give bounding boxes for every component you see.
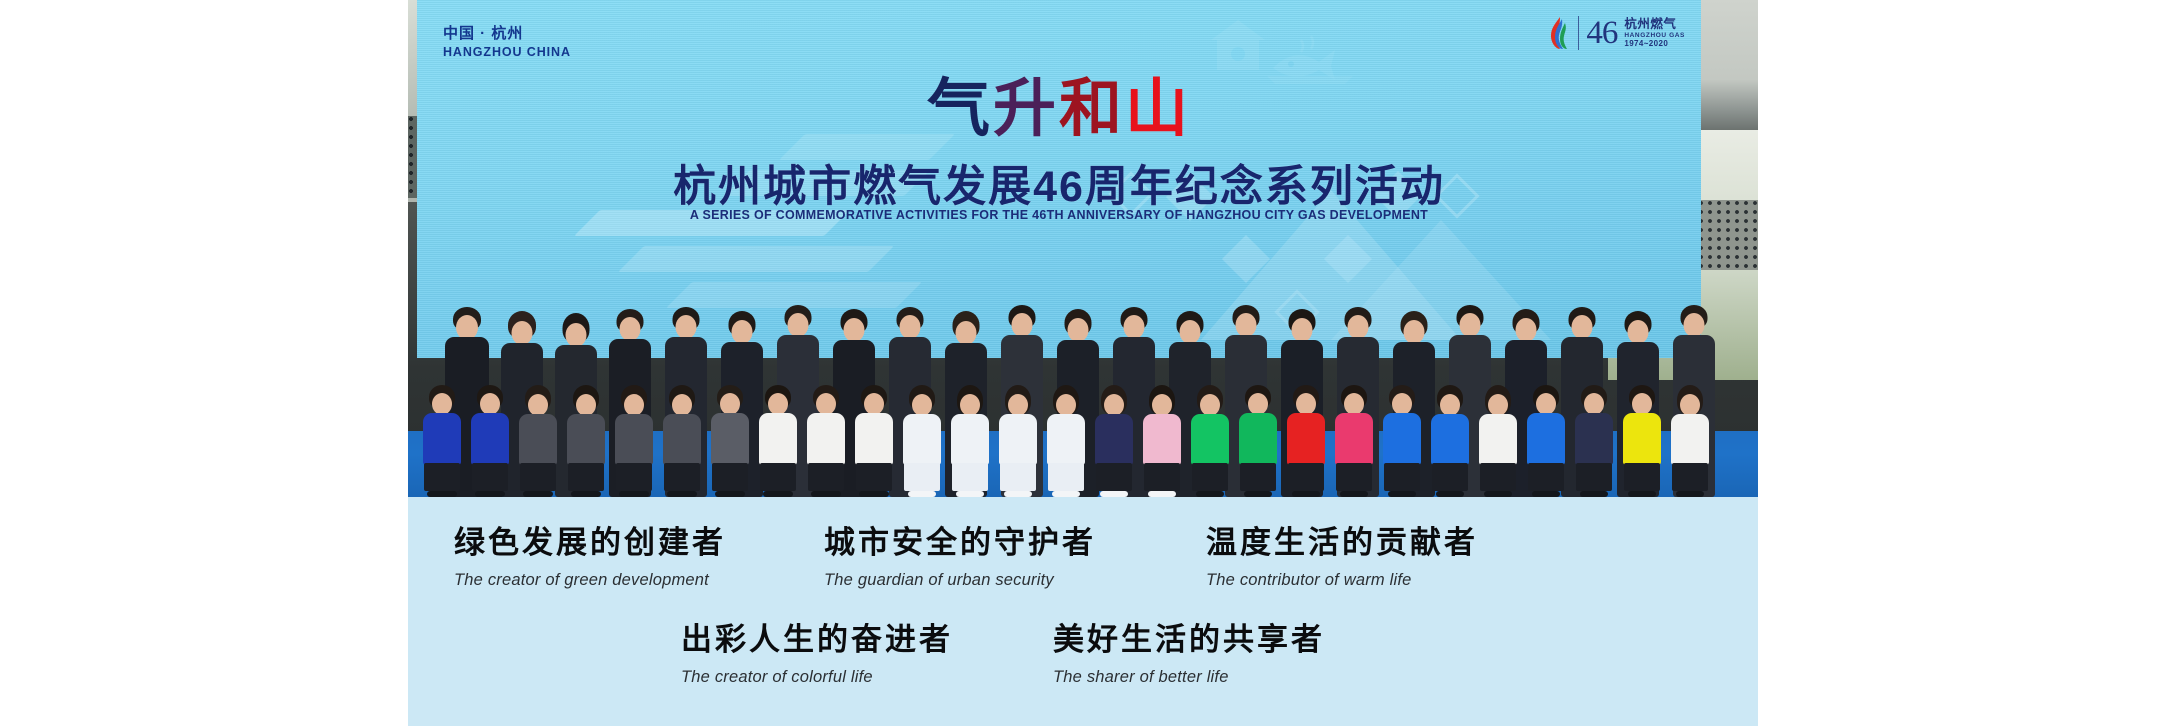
slogan-zh: 出彩人生的奋进者	[681, 614, 1021, 659]
location-cn: 中国 · 杭州	[443, 24, 571, 44]
person	[758, 385, 798, 497]
person	[1382, 385, 1422, 497]
person	[1526, 385, 1566, 497]
person	[566, 385, 606, 497]
person	[1286, 385, 1326, 497]
person	[1046, 385, 1086, 497]
slogan-item: 城市安全的守护者 The guardian of urban security	[824, 517, 1164, 590]
person	[614, 385, 654, 497]
slogan-item: 美好生活的共享者 The sharer of better life	[1053, 614, 1393, 687]
house-icon	[1205, 16, 1271, 74]
person	[662, 385, 702, 497]
anniversary-logo: 46 杭州燃气 HANGZHOU GAS 1974~2020	[1549, 16, 1685, 50]
slogan-zh: 绿色发展的创建者	[454, 517, 802, 562]
person	[950, 385, 990, 497]
slogan-en: The guardian of urban security	[824, 571, 1164, 590]
person	[1190, 385, 1230, 497]
person	[1430, 385, 1470, 497]
poster-page: 中国 · 杭州 HANGZHOU CHINA 46 杭州燃气 HANGZHOU …	[0, 0, 2179, 726]
person	[1094, 385, 1134, 497]
slogan-zh: 城市安全的守护者	[824, 517, 1164, 562]
fish-dish-icon	[1267, 34, 1353, 88]
slogan-row-2: 出彩人生的奋进者 The creator of colorful life 美好…	[408, 614, 1758, 687]
slogan-en: The creator of colorful life	[681, 668, 1021, 687]
location-label: 中国 · 杭州 HANGZHOU CHINA	[443, 24, 571, 60]
person	[1574, 385, 1614, 497]
person	[1142, 385, 1182, 497]
slogan-en: The contributor of warm life	[1206, 571, 1506, 590]
person	[422, 385, 462, 497]
person	[1238, 385, 1278, 497]
brand-text: 杭州燃气 HANGZHOU GAS 1974~2020	[1624, 17, 1685, 49]
people-group	[408, 197, 1758, 497]
flame-icon	[1549, 16, 1571, 50]
person	[1670, 385, 1710, 497]
slogan-item: 绿色发展的创建者 The creator of green developmen…	[454, 517, 802, 590]
logo-divider	[1578, 16, 1579, 50]
slogan-panel: 绿色发展的创建者 The creator of green developmen…	[408, 497, 1758, 726]
calligraphy-slogan: 气升和山	[927, 58, 1191, 149]
calligraphy-char-1: 气	[927, 72, 993, 145]
slogan-row-1: 绿色发展的创建者 The creator of green developmen…	[408, 517, 1758, 590]
brand-cn: 杭州燃气	[1624, 17, 1685, 32]
person	[998, 385, 1038, 497]
calligraphy-char-2: 升	[993, 72, 1059, 145]
brand-years: 1974~2020	[1624, 39, 1685, 48]
person	[854, 385, 894, 497]
brand-en: HANGZHOU GAS	[1624, 32, 1685, 40]
slogan-en: The creator of green development	[454, 571, 802, 590]
person	[1334, 385, 1374, 497]
person	[1622, 385, 1662, 497]
calligraphy-char-4: 山	[1125, 72, 1191, 145]
poster-content: 中国 · 杭州 HANGZHOU CHINA 46 杭州燃气 HANGZHOU …	[408, 0, 1758, 726]
slogan-zh: 美好生活的共享者	[1053, 614, 1393, 659]
person	[470, 385, 510, 497]
calligraphy-char-3: 和	[1059, 72, 1125, 145]
slogan-item: 温度生活的贡献者 The contributor of warm life	[1206, 517, 1506, 590]
person	[1478, 385, 1518, 497]
person	[806, 385, 846, 497]
person	[710, 385, 750, 497]
group-photo: 中国 · 杭州 HANGZHOU CHINA 46 杭州燃气 HANGZHOU …	[408, 0, 1758, 497]
person	[518, 385, 558, 497]
anniversary-number: 46	[1586, 17, 1617, 50]
slogan-zh: 温度生活的贡献者	[1206, 517, 1506, 562]
slogan-en: The sharer of better life	[1053, 668, 1393, 687]
slogan-item: 出彩人生的奋进者 The creator of colorful life	[681, 614, 1021, 687]
location-en: HANGZHOU CHINA	[443, 44, 571, 61]
person	[902, 385, 942, 497]
